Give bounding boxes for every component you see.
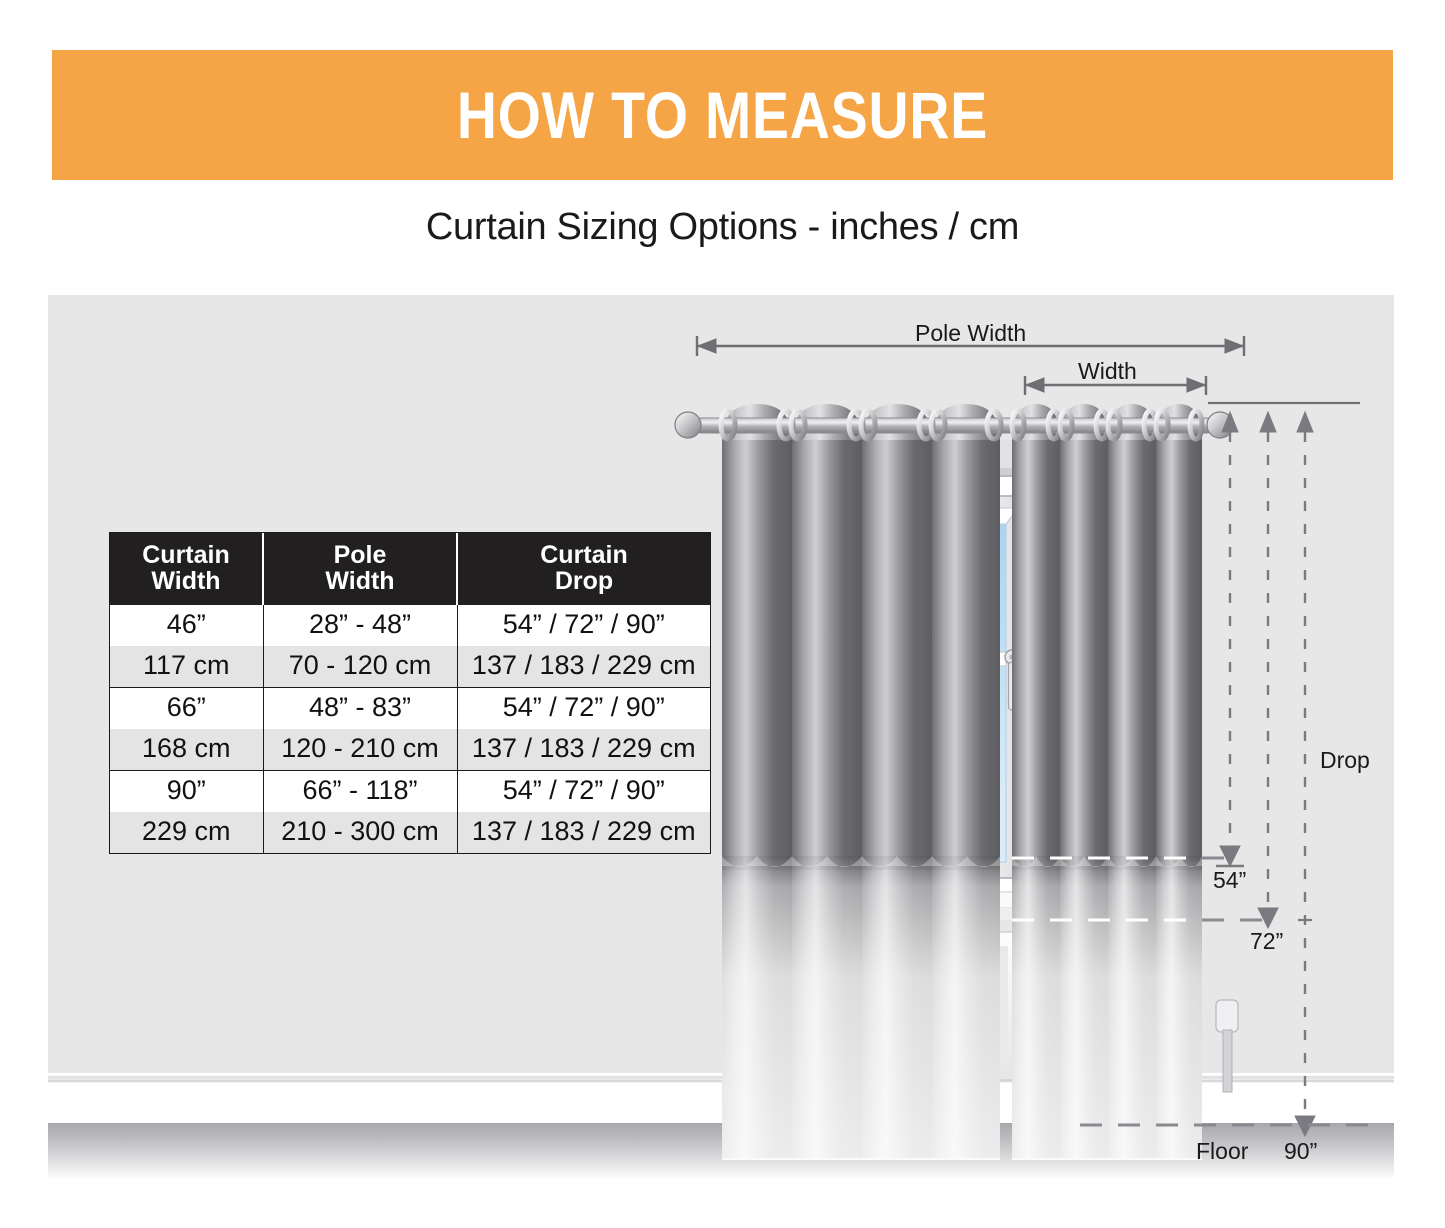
page-subtitle: Curtain Sizing Options - inches / cm (0, 206, 1445, 249)
cell-curtain-width: 90” (110, 771, 263, 813)
label-drop: Drop (1320, 747, 1370, 774)
column-header-pole-width: Pole Width (263, 533, 457, 605)
table-row: 66” 48” - 83” 54” / 72” / 90” (110, 688, 710, 730)
cell-curtain-width: 229 cm (110, 812, 263, 853)
label-floor: Floor (1196, 1138, 1248, 1165)
cell-pole-width: 66” - 118” (263, 771, 457, 813)
drop-54-line (1216, 412, 1244, 866)
cell-curtain-width: 66” (110, 688, 263, 730)
page-title: HOW TO MEASURE (159, 50, 1285, 180)
column-header-curtain-width: Curtain Width (110, 533, 263, 605)
table-row: 117 cm 70 - 120 cm 137 / 183 / 229 cm (110, 646, 710, 688)
table-row: 46” 28” - 48” 54” / 72” / 90” (110, 605, 710, 646)
cell-curtain-drop: 54” / 72” / 90” (457, 771, 710, 813)
label-drop-90: 90” (1284, 1138, 1317, 1165)
poster-canvas: HOW TO MEASURE Curtain Sizing Options - … (0, 0, 1445, 1228)
cell-curtain-drop: 137 / 183 / 229 cm (457, 812, 710, 853)
label-pole-width: Pole Width (915, 320, 1026, 347)
cell-pole-width: 48” - 83” (263, 688, 457, 730)
label-drop-54: 54” (1213, 867, 1246, 894)
drop-90-line (1295, 412, 1315, 1136)
cell-curtain-width: 168 cm (110, 729, 263, 771)
curtain-panel-left (722, 404, 1000, 1160)
label-width: Width (1078, 358, 1137, 385)
cell-pole-width: 210 - 300 cm (263, 812, 457, 853)
label-drop-72: 72” (1250, 928, 1283, 955)
table-row: 229 cm 210 - 300 cm 137 / 183 / 229 cm (110, 812, 710, 853)
dimension-lines (697, 336, 1360, 403)
curtain-sizing-table: Curtain Width Pole Width Curtain Drop 46… (110, 533, 710, 853)
table-body: 46” 28” - 48” 54” / 72” / 90” 117 cm 70 … (110, 605, 710, 853)
cell-pole-width: 120 - 210 cm (263, 729, 457, 771)
curtain-diagram (660, 300, 1400, 1190)
drop-72-line (1258, 412, 1278, 928)
cell-curtain-drop: 54” / 72” / 90” (457, 688, 710, 730)
cell-pole-width: 70 - 120 cm (263, 646, 457, 688)
table-row: 90” 66” - 118” 54” / 72” / 90” (110, 771, 710, 813)
column-header-curtain-drop: Curtain Drop (457, 533, 710, 605)
floor-guide-line (1080, 1118, 1400, 1132)
cell-curtain-drop: 137 / 183 / 229 cm (457, 729, 710, 771)
cell-curtain-width: 117 cm (110, 646, 263, 688)
cell-curtain-width: 46” (110, 605, 263, 646)
cell-curtain-drop: 137 / 183 / 229 cm (457, 646, 710, 688)
cell-curtain-drop: 54” / 72” / 90” (457, 605, 710, 646)
table-row: 168 cm 120 - 210 cm 137 / 183 / 229 cm (110, 729, 710, 771)
cell-pole-width: 28” - 48” (263, 605, 457, 646)
pole-finial-left (675, 412, 701, 438)
table-header-row: Curtain Width Pole Width Curtain Drop (110, 533, 710, 605)
curtain-panel-right (1012, 404, 1202, 1160)
header-banner: HOW TO MEASURE (52, 50, 1393, 180)
